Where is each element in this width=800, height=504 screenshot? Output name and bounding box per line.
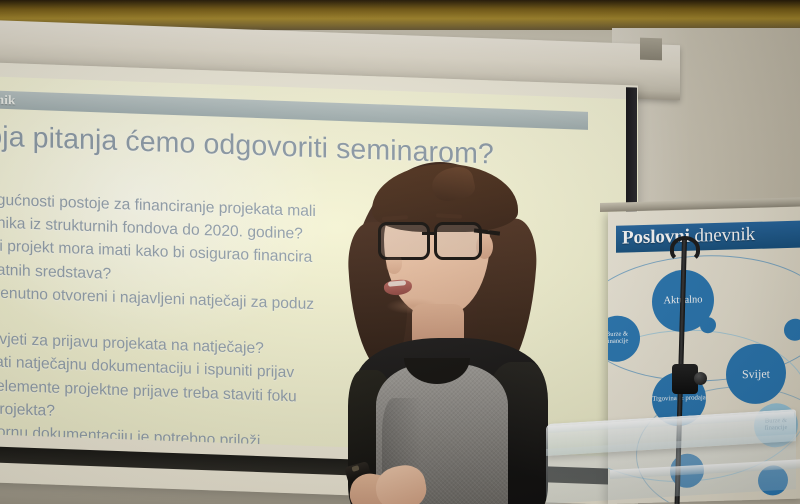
microphone-clamp-icon: [670, 236, 700, 262]
nose: [386, 254, 402, 274]
eyeglasses: [376, 222, 498, 256]
slide-brand-label: i dnevnik: [0, 90, 15, 108]
glasses-bridge: [422, 232, 436, 235]
screenshot-root: i dnevnik a koja pitanja ćemo odgovoriti…: [0, 0, 800, 504]
banner-title-light: dnevnik: [694, 224, 755, 247]
projection-screen-bracket: [640, 38, 662, 61]
banner-bubble-dot: [784, 318, 800, 341]
glasses-lens-left: [378, 222, 430, 260]
microphone-stand-knob: [694, 372, 707, 385]
